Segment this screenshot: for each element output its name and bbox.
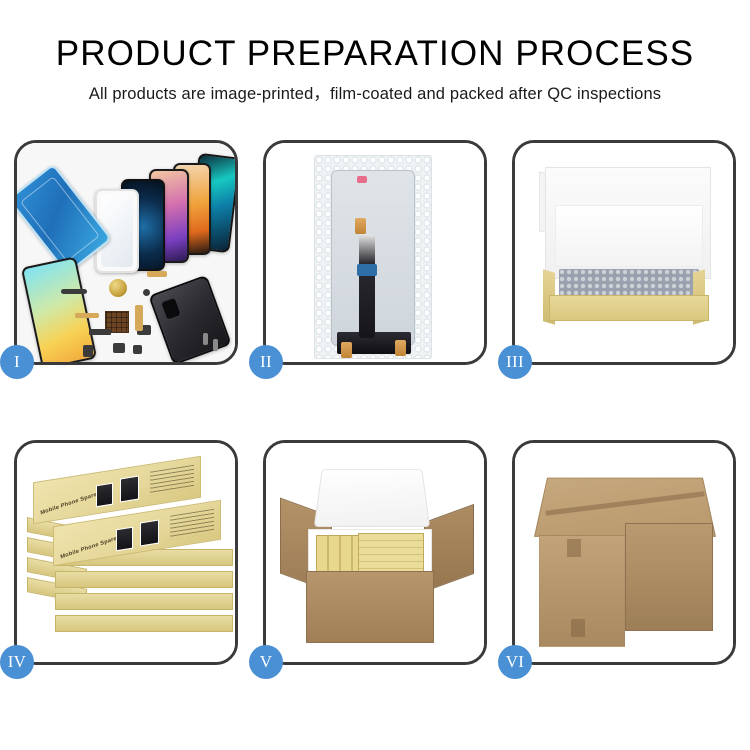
step-badge-5: V bbox=[249, 645, 283, 679]
process-step-panel-5[interactable]: V bbox=[263, 440, 487, 665]
process-step-grid: I II bbox=[14, 140, 736, 665]
step-badge-6: VI bbox=[498, 645, 532, 679]
phones-and-parts-illustration bbox=[17, 143, 235, 362]
page-title: PRODUCT PREPARATION PROCESS bbox=[0, 34, 750, 74]
panel-6-photo bbox=[515, 443, 733, 662]
panel-4-photo: Mobile Phone Spare Parts Mobile Phone Sp… bbox=[17, 443, 235, 662]
open-kraft-tray-illustration bbox=[515, 143, 733, 362]
open-carton-illustration bbox=[266, 443, 484, 662]
panel-2-photo bbox=[266, 143, 484, 362]
step-badge-4: IV bbox=[0, 645, 34, 679]
step-badge-2: II bbox=[249, 345, 283, 379]
step-badge-3: III bbox=[498, 345, 532, 379]
speaker-part-icon bbox=[109, 279, 127, 297]
white-foam-pad bbox=[555, 205, 703, 267]
process-step-panel-3[interactable]: III bbox=[512, 140, 736, 365]
process-step-panel-1[interactable]: I bbox=[14, 140, 238, 365]
process-step-panel-2[interactable]: II bbox=[263, 140, 487, 365]
bubble-wrap-bag bbox=[314, 155, 432, 359]
panel-3-photo bbox=[515, 143, 733, 362]
product-preparation-infographic: PRODUCT PREPARATION PROCESS All products… bbox=[0, 0, 750, 750]
stacked-boxes-illustration: Mobile Phone Spare Parts Mobile Phone Sp… bbox=[17, 443, 235, 662]
panel-5-photo bbox=[266, 443, 484, 662]
panel-1-photo bbox=[17, 143, 235, 362]
process-step-panel-6[interactable]: VI bbox=[512, 440, 736, 665]
header: PRODUCT PREPARATION PROCESS All products… bbox=[0, 0, 750, 105]
foam-lid bbox=[314, 469, 430, 527]
step-badge-1: I bbox=[0, 345, 34, 379]
bubble-wrapped-screen-illustration bbox=[266, 143, 484, 362]
sealed-carton-illustration bbox=[515, 443, 733, 662]
page-subtitle: All products are image-printed，film-coat… bbox=[0, 83, 750, 105]
process-step-panel-4[interactable]: Mobile Phone Spare Parts Mobile Phone Sp… bbox=[14, 440, 238, 665]
